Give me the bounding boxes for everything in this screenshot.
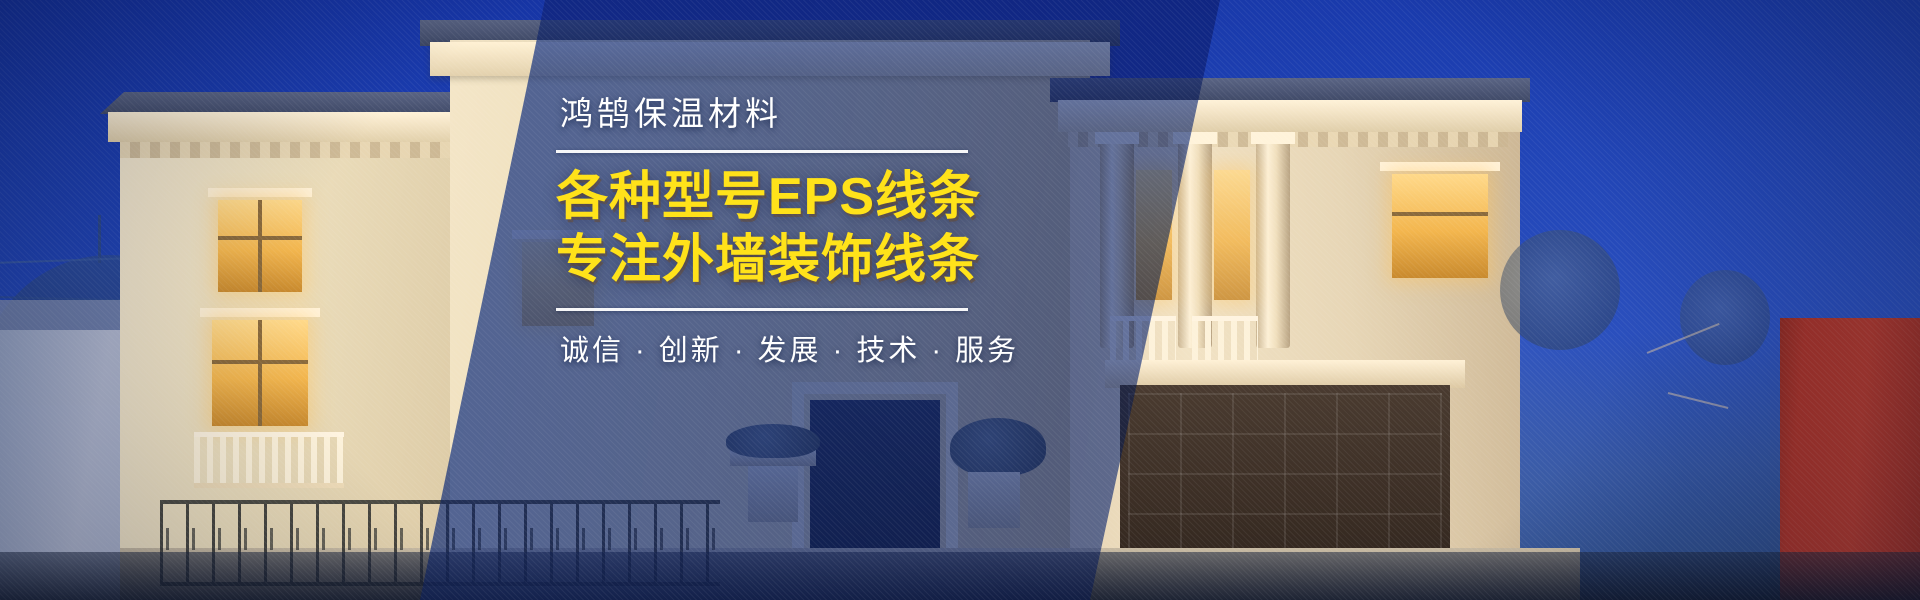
- garage-lintel: [1105, 360, 1465, 388]
- window-mullion-left-upper-h: [218, 236, 302, 240]
- company-name: 鸿鹄保温材料: [560, 96, 1016, 132]
- cornice-left-wing: [108, 112, 490, 142]
- tree-right-2: [1680, 270, 1770, 365]
- balustrade-left: [194, 432, 344, 488]
- headline-line-2: 专注外墙装饰线条: [556, 232, 1016, 289]
- banner-copy: 鸿鹄保温材料 各种型号EPS线条 专注外墙装饰线条 诚信 · 创新 · 发展 ·…: [556, 96, 1016, 369]
- tagline: 诚信 · 创新 · 发展 · 技术 · 服务: [560, 327, 1016, 369]
- column-3-capital: [1251, 132, 1295, 144]
- dentil-course-left: [120, 142, 490, 158]
- roof-left-wing: [100, 92, 500, 114]
- window-mullion-left-lower-h: [212, 360, 308, 364]
- column-3: [1256, 138, 1290, 348]
- divider-bottom: [556, 308, 968, 311]
- window-mullion-left-lower-v: [258, 320, 262, 426]
- tree-right-1: [1500, 230, 1620, 350]
- dome-spire: [98, 215, 101, 263]
- window-mullion-left-upper-v: [258, 200, 262, 292]
- window-hood-left-lower: [200, 308, 320, 317]
- window-right-bay-2: [1214, 170, 1250, 300]
- divider-top: [556, 150, 968, 153]
- window-hood-left-upper: [208, 188, 312, 197]
- promo-banner: 鸿鹄保温材料 各种型号EPS线条 专注外墙装饰线条 诚信 · 创新 · 发展 ·…: [0, 0, 1920, 600]
- headline-line-1: 各种型号EPS线条: [556, 169, 1016, 226]
- window-far-right: [1392, 174, 1488, 278]
- window-mullion-far-right-h: [1392, 212, 1488, 216]
- window-hood-far-right: [1380, 162, 1500, 171]
